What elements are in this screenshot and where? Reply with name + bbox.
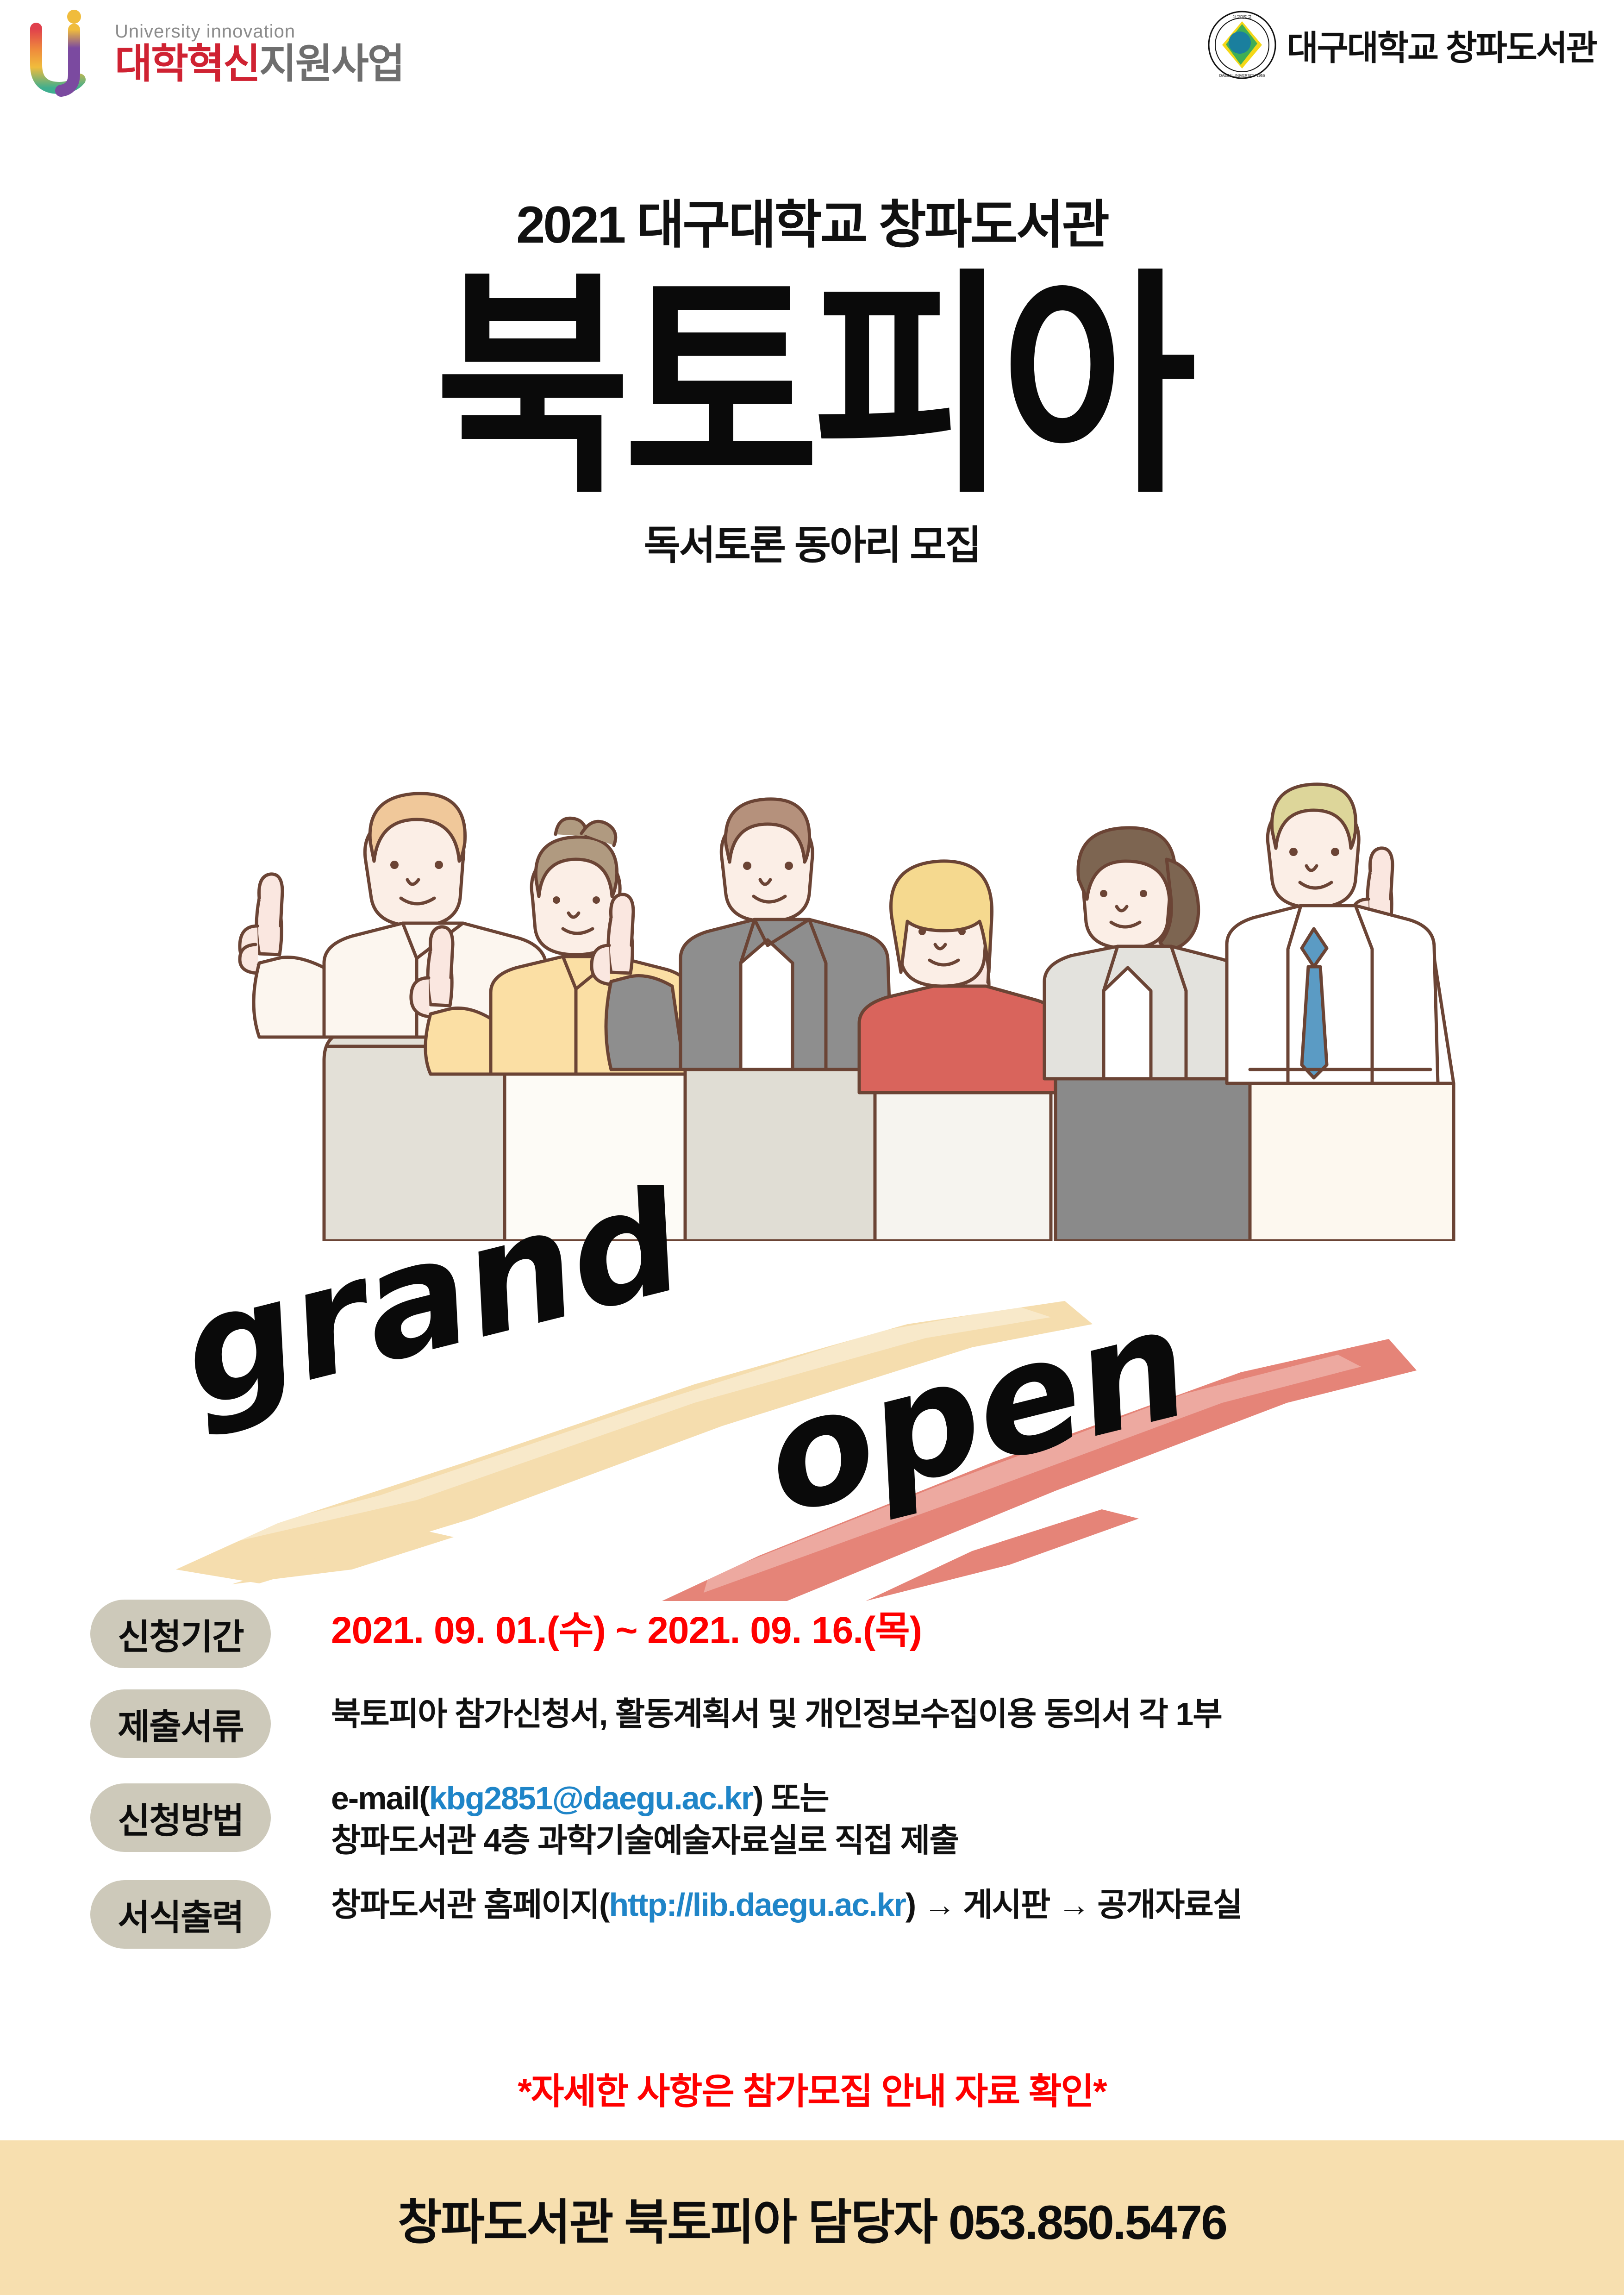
footer-contact-band: 창파도서관 북토피아 담당자 053.850.5476 [0,2140,1624,2295]
university-innovation-korean-red: 대학혁신 [115,41,259,87]
grand-open-word-grand: grand [165,1185,701,1443]
method-line-inperson: 창파도서관 4층 과학기술예술자료실로 직접 제출 [331,1820,1624,1862]
svg-text:DAEGU UNIVERSITY 1956: DAEGU UNIVERSITY 1956 [1219,74,1265,78]
university-innovation-korean-gray: 지원사업 [259,41,404,87]
footer-contact-text: 창파도서관 북토피아 담당자 053.850.5476 [398,2183,1226,2253]
poster-title-block: 2021 대구대학교 창파도서관 북토피아 독서토론 동아리 모집 [0,199,1624,565]
form-download-path: 창파도서관 홈페이지(http://lib.daegu.ac.kr) → 게시판… [331,1884,1624,1926]
daegu-university-library-label: 대구대학교 창파도서관 [1287,20,1596,70]
uj-mark-icon [28,9,106,97]
info-rows: 신청기간 2021. 09. 01.(수) ~ 2021. 09. 16.(목)… [0,1600,1624,1964]
university-innovation-logo: University innovation 대학혁신지원사업 [28,9,404,97]
form-path-suffix: ) → 게시판 → 공개자료실 [906,1887,1242,1923]
poster-subtitle: 독서토론 동아리 모집 [0,525,1624,565]
application-period-value: 2021. 09. 01.(수) ~ 2021. 09. 16.(목) [331,1608,1624,1653]
people-thumbs-up-illustration [0,602,1624,1241]
info-value-method: e-mail(kbg2851@daegu.ac.kr) 또는 창파도서관 4층 … [271,1774,1624,1862]
method-line-email: e-mail(kbg2851@daegu.ac.kr) 또는 [331,1777,1624,1820]
info-row-form-download: 서식출력 창파도서관 홈페이지(http://lib.daegu.ac.kr) … [0,1880,1624,1949]
method-email-prefix: e-mail( [331,1780,429,1816]
email-link[interactable]: kbg2851@daegu.ac.kr [429,1780,753,1816]
pill-label-method: 신청방법 [90,1783,271,1852]
method-email-suffix: ) 또는 [753,1780,829,1816]
info-row-method: 신청방법 e-mail(kbg2851@daegu.ac.kr) 또는 창파도서… [0,1774,1624,1862]
info-value-period: 2021. 09. 01.(수) ~ 2021. 09. 16.(목) [271,1600,1624,1653]
university-innovation-english-label: University innovation [115,22,404,41]
info-row-documents: 제출서류 북토피아 참가신청서, 활동계획서 및 개인정보수집이용 동의서 각 … [0,1689,1624,1758]
daegu-university-seal-icon: 대구대학교 DAEGU UNIVERSITY 1956 [1207,10,1277,80]
poster-supertitle: 2021 대구대학교 창파도서관 [0,199,1624,251]
info-value-form: 창파도서관 홈페이지(http://lib.daegu.ac.kr) → 게시판… [271,1880,1624,1926]
info-value-documents: 북토피아 참가신청서, 활동계획서 및 개인정보수집이용 동의서 각 1부 [271,1689,1624,1735]
header-logo-bar: University innovation 대학혁신지원사업 대구대학교 DAE… [0,0,1624,116]
form-path-prefix: 창파도서관 홈페이지( [331,1887,609,1923]
pill-label-form: 서식출력 [90,1880,271,1949]
grand-open-graphic: grand open [0,1185,1624,1602]
daegu-university-library-logo: 대구대학교 DAEGU UNIVERSITY 1956 대구대학교 창파도서관 [1207,10,1596,80]
library-homepage-link[interactable]: http://lib.daegu.ac.kr [609,1887,906,1923]
poster-main-title: 북토피아 [0,266,1624,509]
pill-label-period: 신청기간 [90,1600,271,1668]
info-row-period: 신청기간 2021. 09. 01.(수) ~ 2021. 09. 16.(목) [0,1600,1624,1668]
pill-label-documents: 제출서류 [90,1689,271,1758]
detail-note: *자세한 사항은 참가모집 안내 자료 확인* [0,2063,1624,2114]
svg-text:대구대학교: 대구대학교 [1232,15,1251,19]
required-documents-value: 북토피아 참가신청서, 활동계획서 및 개인정보수집이용 동의서 각 1부 [331,1693,1624,1735]
